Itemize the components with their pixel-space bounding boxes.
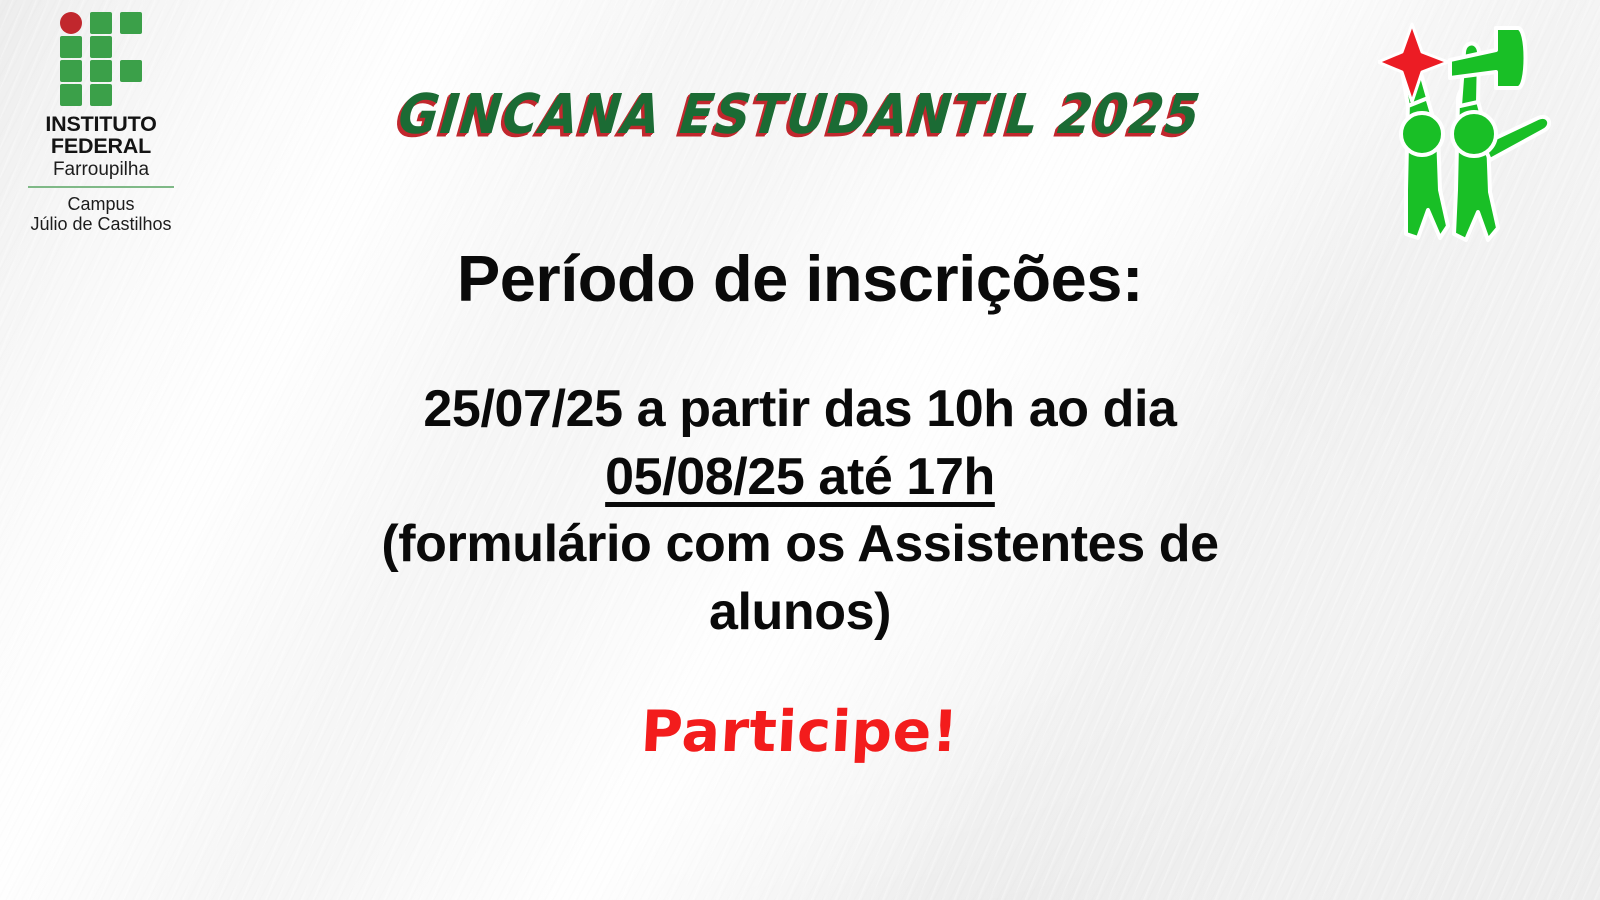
logo-institution-line-2: FEDERAL — [26, 136, 176, 158]
call-to-action: Participe! — [640, 699, 961, 765]
page-title: GINCANA ESTUDANTIL 2025 — [396, 83, 1204, 147]
note-line-2: alunos) — [200, 579, 1400, 647]
iff-logo-grid-icon — [60, 12, 142, 106]
logo-cell-icon — [90, 60, 112, 82]
logo-cell-icon — [60, 60, 82, 82]
logo-divider — [28, 186, 174, 188]
logo-campus-label: Campus — [26, 194, 176, 214]
logo-cell-icon — [120, 12, 142, 34]
logo-campus-name: Júlio de Castilhos — [26, 214, 176, 234]
poster-body: Período de inscrições: 25/07/25 a partir… — [200, 244, 1400, 765]
registration-dates: 25/07/25 a partir das 10h ao dia 05/08/2… — [200, 376, 1400, 646]
note-line-1: (formulário com os Assistentes de — [200, 511, 1400, 579]
date-line-start: 25/07/25 a partir das 10h ao dia — [200, 376, 1400, 444]
poster-canvas: INSTITUTO FEDERAL Farroupilha Campus Júl… — [0, 0, 1600, 900]
logo-cell-icon — [60, 36, 82, 58]
logo-unit-name: Farroupilha — [26, 160, 176, 179]
logo-cell-icon — [90, 84, 112, 106]
page-headline: Período de inscrições: — [200, 244, 1400, 314]
logo-cell-icon — [120, 60, 142, 82]
logo-cell-icon — [90, 12, 112, 34]
logo-cell-icon — [90, 36, 112, 58]
logo-institution-line-1: INSTITUTO — [26, 114, 176, 136]
logo-cell-icon — [60, 84, 82, 106]
red-star-icon — [1378, 24, 1448, 102]
two-students-with-megaphone-and-star-icon — [1378, 14, 1568, 246]
date-line-end: 05/08/25 até 17h — [605, 448, 995, 506]
logo-cell-dot-icon — [60, 12, 82, 34]
poster-title-area: GINCANA ESTUDANTIL 2025 — [0, 86, 1600, 143]
iff-logo: INSTITUTO FEDERAL Farroupilha Campus Júl… — [26, 12, 176, 234]
